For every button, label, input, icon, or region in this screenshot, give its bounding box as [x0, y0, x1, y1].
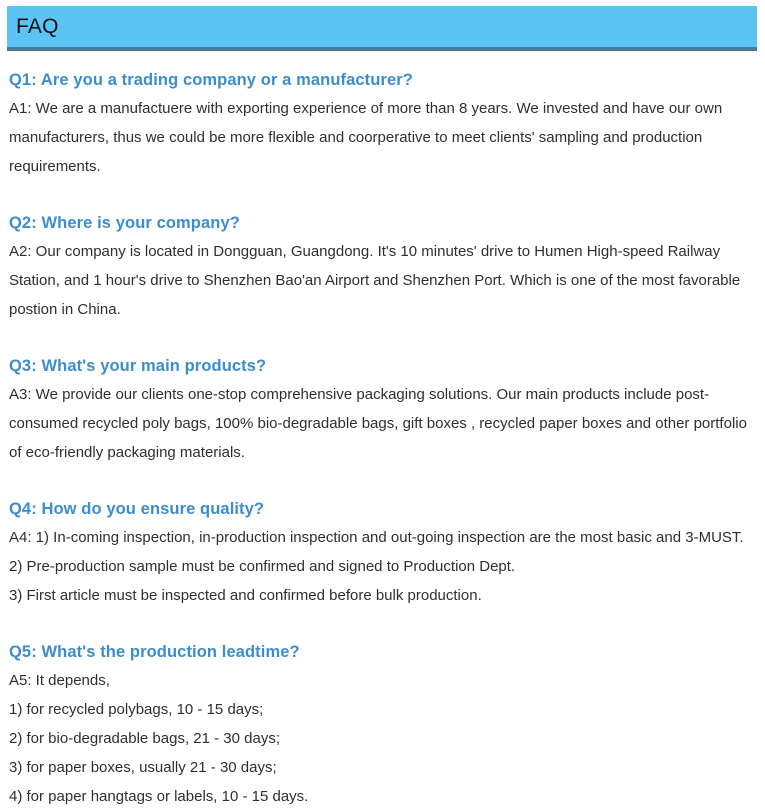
faq-answer: A2: Our company is located in Dongguan, …	[9, 237, 754, 324]
faq-answer-line: 3) for paper boxes, usually 21 - 30 days…	[9, 753, 754, 782]
faq-answer: A1: We are a manufactuere with exporting…	[9, 94, 754, 181]
faq-answer: A3: We provide our clients one-stop comp…	[9, 380, 754, 467]
faq-question: Q4: How do you ensure quality?	[9, 497, 754, 521]
faq-page: FAQ Q1: Are you a trading company or a m…	[0, 0, 765, 748]
faq-answer-line: A1: We are a manufactuere with exporting…	[9, 94, 754, 181]
faq-question: Q2: Where is your company?	[9, 211, 754, 235]
faq-answer-line: 2) Pre-production sample must be confirm…	[9, 552, 754, 581]
faq-answer-line: 3) First article must be inspected and c…	[9, 581, 754, 610]
faq-question: Q1: Are you a trading company or a manuf…	[9, 68, 754, 92]
faq-answer: A4: 1) In-coming inspection, in-producti…	[9, 523, 754, 610]
faq-item: Q1: Are you a trading company or a manuf…	[9, 68, 754, 181]
faq-answer-line: 2) for bio-degradable bags, 21 - 30 days…	[9, 724, 754, 753]
faq-item: Q2: Where is your company? A2: Our compa…	[9, 211, 754, 324]
faq-answer: A5: It depends, 1) for recycled polybags…	[9, 666, 754, 811]
faq-question: Q3: What's your main products?	[9, 354, 754, 378]
faq-answer-line: A4: 1) In-coming inspection, in-producti…	[9, 523, 754, 552]
faq-answer-line: A5: It depends,	[9, 666, 754, 695]
faq-answer-line: A3: We provide our clients one-stop comp…	[9, 380, 754, 467]
faq-banner: FAQ	[7, 6, 757, 51]
faq-answer-line: 4) for paper hangtags or labels, 10 - 15…	[9, 782, 754, 811]
faq-list: Q1: Are you a trading company or a manuf…	[9, 68, 754, 811]
faq-item: Q4: How do you ensure quality? A4: 1) In…	[9, 497, 754, 610]
faq-answer-line: 1) for recycled polybags, 10 - 15 days;	[9, 695, 754, 724]
faq-banner-title: FAQ	[7, 16, 59, 37]
faq-answer-line: A2: Our company is located in Dongguan, …	[9, 237, 754, 324]
faq-item: Q3: What's your main products? A3: We pr…	[9, 354, 754, 467]
faq-question: Q5: What's the production leadtime?	[9, 640, 754, 664]
faq-item: Q5: What's the production leadtime? A5: …	[9, 640, 754, 811]
